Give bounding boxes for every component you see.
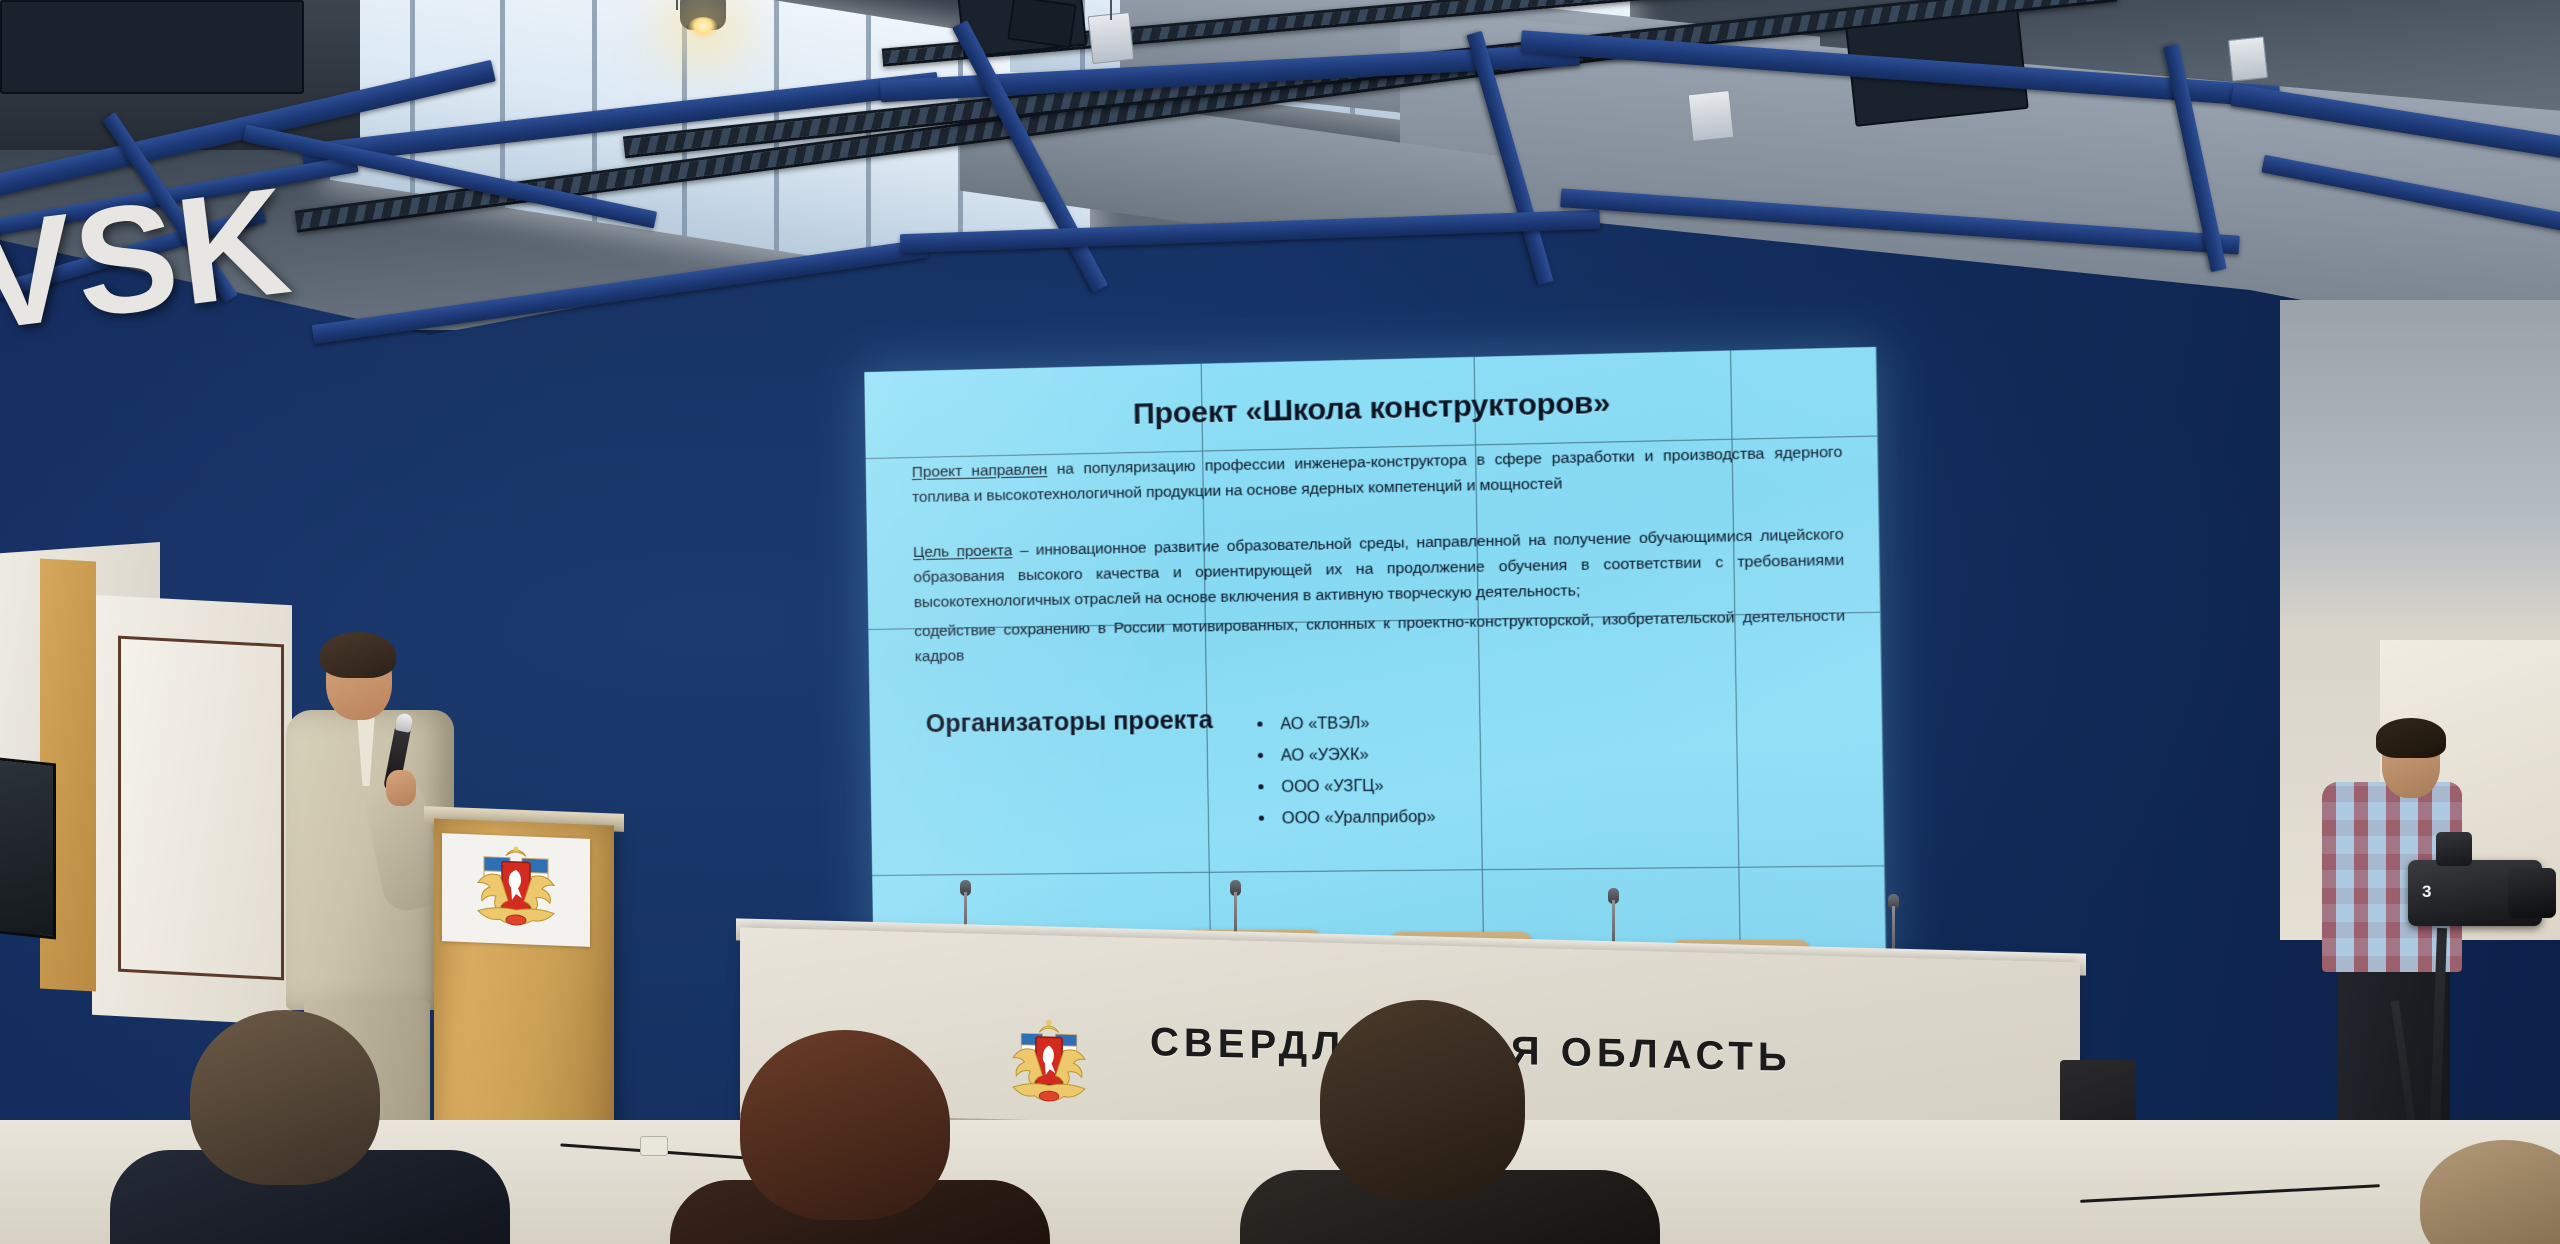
paragraph-1-body: на популяризацию профессии инженера-конс… <box>912 443 1842 506</box>
cameraman-hair <box>2376 718 2446 758</box>
audience-head <box>1320 1000 1525 1200</box>
audience-member-left <box>150 1010 470 1244</box>
audience-member-far-right <box>2420 1140 2560 1244</box>
audience-member-right <box>1280 1000 1600 1244</box>
podium-coat-of-arms-plate <box>442 833 590 947</box>
conference-photo-scene: Проект «Школа конструкторов» Проект напр… <box>0 0 2560 1244</box>
booth-monitor-left <box>0 757 56 940</box>
list-item: АО «ТВЭЛ» <box>1254 707 1435 741</box>
video-camera-viewfinder <box>2436 832 2472 866</box>
list-item: ООО «Уралприбор» <box>1255 802 1436 836</box>
audience-member-center <box>700 1030 1000 1244</box>
stage-light-white-3 <box>2228 36 2268 82</box>
lighting-rig-box-3 <box>0 0 304 94</box>
lighting-rig-box-2 <box>1845 9 2028 127</box>
audience-head <box>2420 1140 2560 1244</box>
table-coat-of-arms <box>1000 1009 1098 1131</box>
slide-paragraph-3: содействие сохранению в России мотивиров… <box>914 604 1846 670</box>
list-item: АО «УЭХК» <box>1254 738 1435 772</box>
organizers-list: АО «ТВЭЛ» АО «УЭХК» ООО «УЗГЦ» ООО «Урал… <box>1254 707 1436 836</box>
speaker-hair <box>320 632 396 678</box>
slide-title: Проект «Школа конструкторов» <box>911 381 1842 437</box>
paragraph-1-lead: Проект направлен <box>912 461 1048 481</box>
ceiling-lamp-lit <box>680 0 726 30</box>
video-camera-lens <box>2508 868 2556 918</box>
audience-head <box>190 1010 380 1185</box>
paragraph-2-body: – инновационное развитие образовательной… <box>913 526 1844 611</box>
organizers-title: Организаторы проекта <box>916 706 1214 739</box>
paragraph-2-lead: Цель проекта <box>913 542 1013 561</box>
speaker-hand <box>386 770 416 806</box>
floor-power-adapter <box>640 1136 668 1156</box>
video-wall-display[interactable]: Проект «Школа конструкторов» Проект напр… <box>864 347 1886 972</box>
stage-light-white-2 <box>1688 90 1735 142</box>
list-item: ООО «УЗГЦ» <box>1255 770 1436 804</box>
camera-number-label: 3 <box>2422 882 2431 902</box>
audience-head <box>740 1030 950 1220</box>
organizers-section: Организаторы проекта АО «ТВЭЛ» АО «УЭХК»… <box>916 696 1849 838</box>
booth-framed-board-left <box>118 636 284 981</box>
sverdlovsk-coat-of-arms-icon <box>456 844 576 937</box>
presentation-slide: Проект «Школа конструкторов» Проект напр… <box>864 347 1886 972</box>
